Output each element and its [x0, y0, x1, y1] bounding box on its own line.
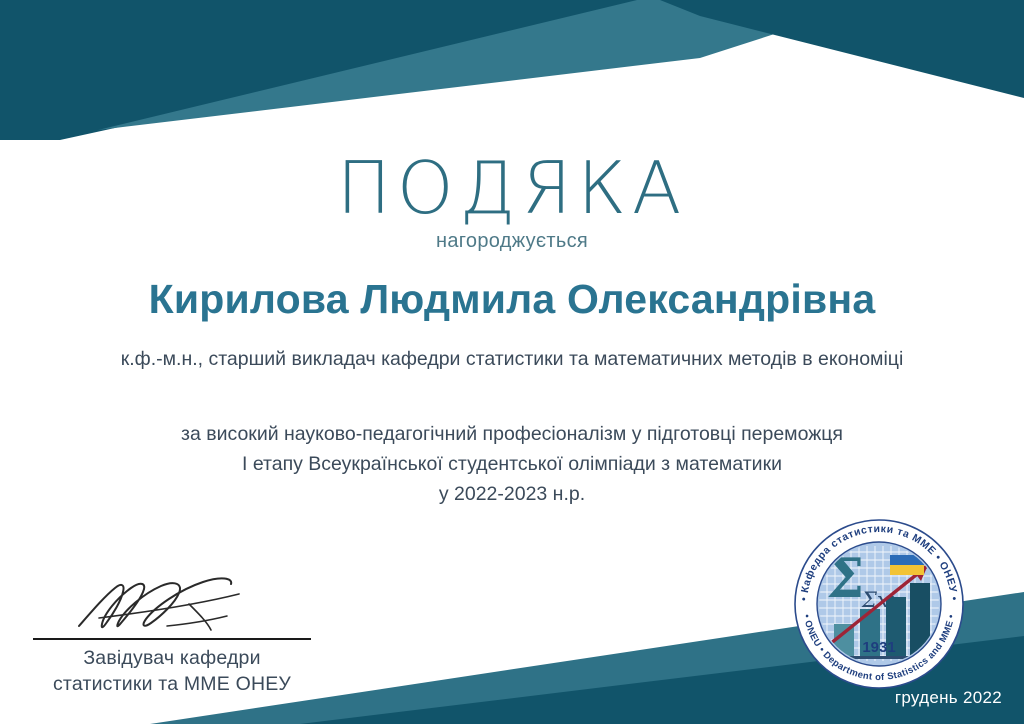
certificate-content: ПОДЯКА нагороджується Кирилова Людмила О… [0, 0, 1024, 724]
certificate: ПОДЯКА нагороджується Кирилова Людмила О… [0, 0, 1024, 724]
recipient-name: Кирилова Людмила Олександрівна [0, 276, 1024, 323]
recipient-role: к.ф.-м.н., старший викладач кафедри стат… [0, 345, 1024, 375]
signature-caption-line-2: статистики та ММЕ ОНЕУ [33, 672, 311, 698]
signature-caption: Завідувач кафедри статистики та ММЕ ОНЕУ [33, 646, 311, 698]
role-line-1: к.ф.-м.н., старший викладач кафедри стат… [121, 348, 589, 370]
awarded-to-label: нагороджується [0, 230, 1024, 253]
role-line-2: математичних методів в економіці [594, 348, 903, 370]
signature-caption-line-1: Завідувач кафедри [33, 646, 311, 672]
issue-date: грудень 2022 [895, 688, 1002, 708]
signature-rule [33, 638, 311, 640]
seal-year-label: 1931 [862, 639, 895, 656]
page-title: ПОДЯКА [0, 152, 1024, 224]
department-seal-icon: • Кафедра статистики та ММЕ • ОНЕУ • • O… [786, 511, 972, 697]
handwritten-signature-icon [33, 578, 311, 638]
reason-line-2: I етапу Всеукраїнської студентської олім… [0, 449, 1024, 479]
reason-line-3: у 2022-2023 н.р. [0, 479, 1024, 509]
award-reason: за високий науково-педагогічний професіо… [0, 419, 1024, 510]
signature-block: Завідувач кафедри статистики та ММЕ ОНЕУ [33, 578, 311, 698]
reason-line-1: за високий науково-педагогічний професіо… [0, 419, 1024, 449]
